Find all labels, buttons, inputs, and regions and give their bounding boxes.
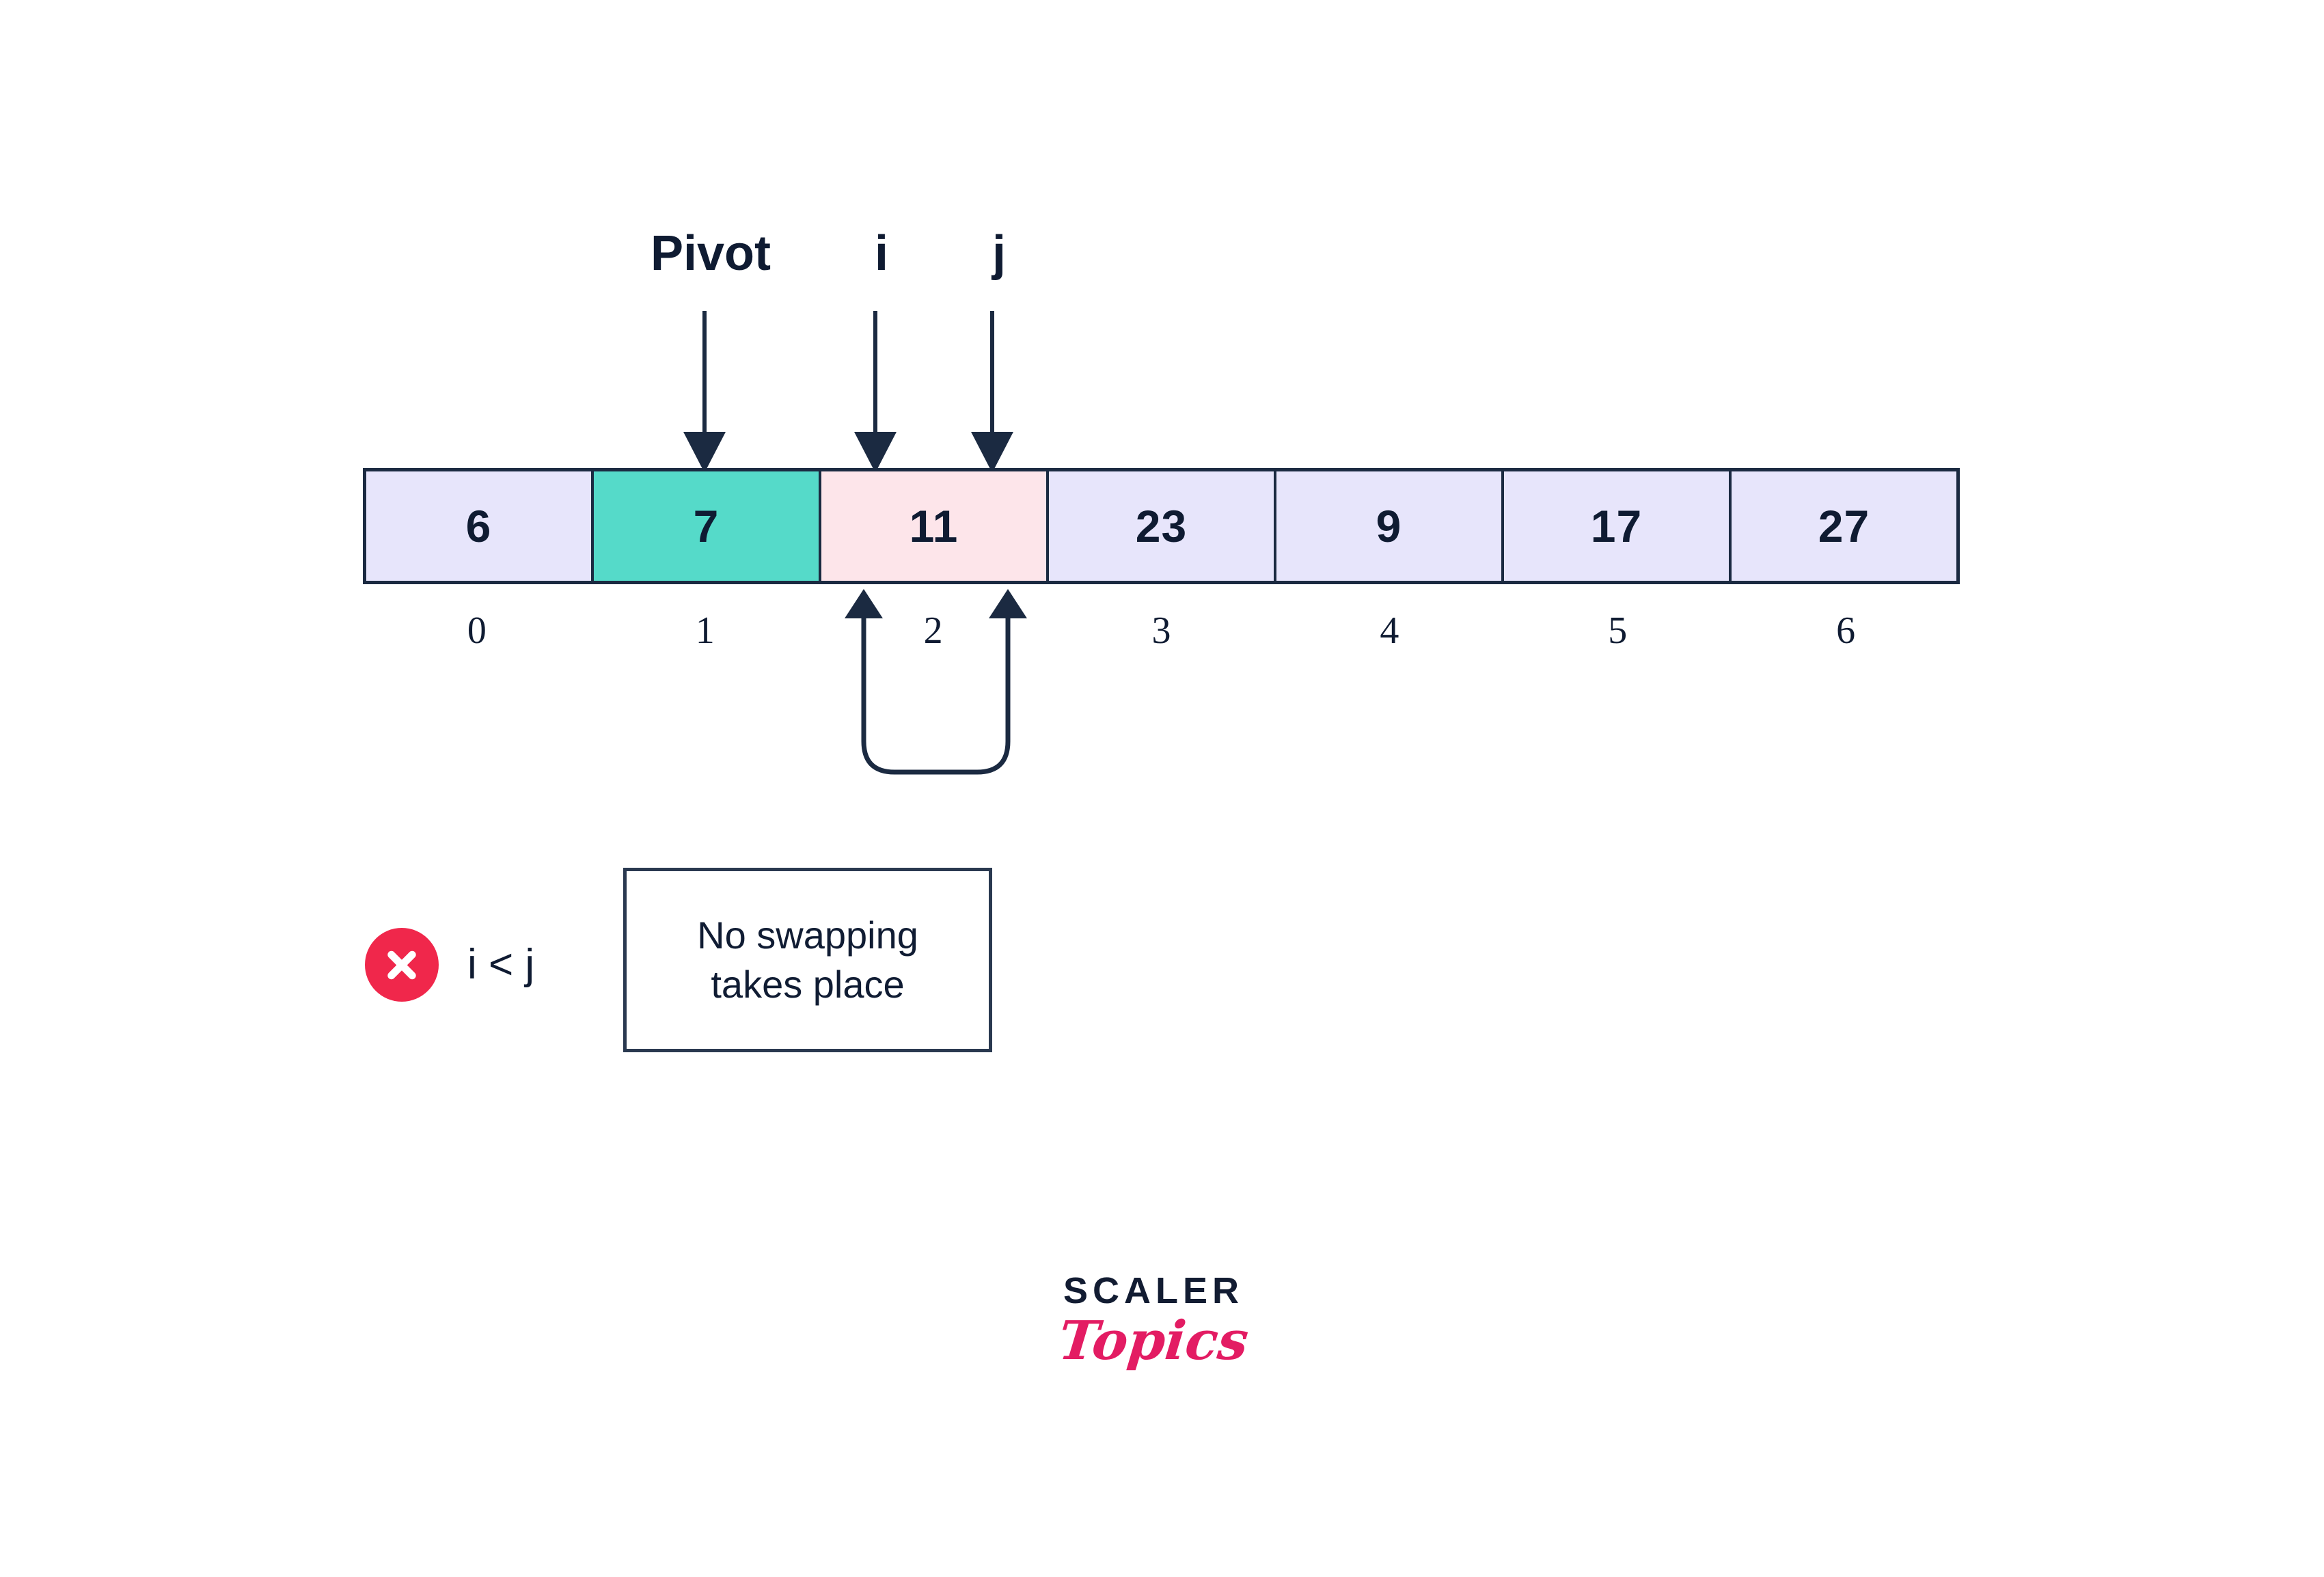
array-cell-value: 27 xyxy=(1818,500,1870,552)
array-cell-1-pivot[interactable]: 7 xyxy=(594,471,821,581)
array-cell-4[interactable]: 9 xyxy=(1276,471,1504,581)
array-visualization: 6 7 11 23 9 17 27 xyxy=(363,468,1960,584)
scaler-topics-logo: SCALER Topics xyxy=(1044,1272,1263,1368)
array-cell-value: 23 xyxy=(1136,500,1187,552)
note-line-1: No swapping xyxy=(697,911,918,960)
array-cell-3[interactable]: 23 xyxy=(1049,471,1276,581)
array-cell-value: 11 xyxy=(910,500,959,552)
condition-text: i < j xyxy=(467,944,534,986)
array-index-6: 6 xyxy=(1732,612,1960,659)
array-index-row: 0 1 2 3 4 5 6 xyxy=(363,612,1960,659)
array-cell-value: 7 xyxy=(694,500,720,552)
logo-wordmark-topics: Topics xyxy=(1041,1315,1266,1368)
status-group: i < j xyxy=(365,928,534,1002)
array-index-3: 3 xyxy=(1048,612,1276,659)
pointer-arrow-j xyxy=(971,311,1013,473)
array-index-2: 2 xyxy=(819,612,1048,659)
array-cell-5[interactable]: 17 xyxy=(1504,471,1732,581)
note-line-2: takes place xyxy=(711,960,904,1009)
array-cell-value: 9 xyxy=(1376,500,1402,552)
array-cell-0[interactable]: 6 xyxy=(366,471,594,581)
array-cell-2-current[interactable]: 11 xyxy=(821,471,1049,581)
pointer-label-j: j xyxy=(992,229,1006,278)
pointer-arrow-pivot xyxy=(683,311,726,473)
array-index-0: 0 xyxy=(363,612,591,659)
note-box: No swapping takes place xyxy=(623,868,992,1052)
array-index-1: 1 xyxy=(591,612,819,659)
array-index-5: 5 xyxy=(1503,612,1732,659)
pointer-label-i: i xyxy=(875,229,888,278)
array-cell-value: 17 xyxy=(1591,500,1642,552)
array-cell-value: 6 xyxy=(466,500,492,552)
pointer-arrow-i xyxy=(854,311,897,473)
diagram-canvas: Pivot i j xyxy=(0,0,2324,1577)
array-cell-6[interactable]: 27 xyxy=(1732,471,1956,581)
array-index-4: 4 xyxy=(1275,612,1503,659)
x-circle-icon xyxy=(365,928,439,1002)
pointer-label-pivot: Pivot xyxy=(651,229,771,278)
logo-wordmark-scaler: SCALER xyxy=(1044,1272,1263,1309)
